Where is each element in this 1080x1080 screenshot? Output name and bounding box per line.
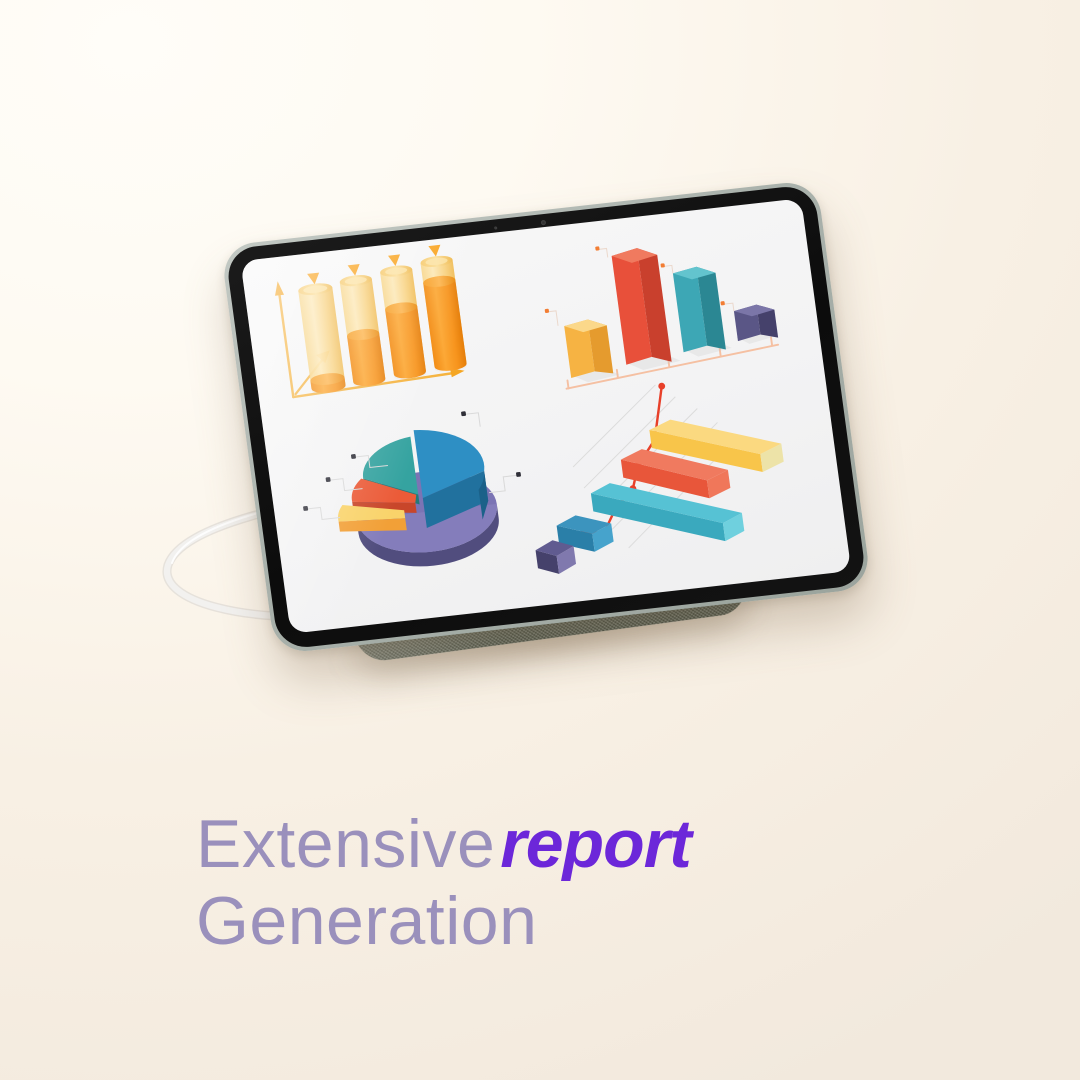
bar-marker-1-icon <box>307 273 320 285</box>
isometric-column-chart <box>537 228 782 390</box>
bar-marker-3-icon <box>388 254 401 266</box>
camera-lens-icon <box>541 220 547 226</box>
headline-line-2: Generation <box>196 883 1036 960</box>
bar-3 <box>378 253 427 381</box>
dashboard-charts <box>240 198 849 620</box>
bar-1 <box>296 271 346 396</box>
poster-canvas: Extensive report Generation <box>0 0 1080 1080</box>
headline-line-1: Extensive report <box>196 806 1036 883</box>
tablet-screen[interactable] <box>240 198 851 633</box>
bar-marker-2-icon <box>348 264 361 276</box>
bar-2 <box>338 263 387 389</box>
horizontal-bar-line-chart <box>515 370 795 576</box>
tablet-device <box>150 195 910 695</box>
column-teal <box>672 265 726 355</box>
headline-plain-text: Extensive <box>196 806 495 882</box>
bar-marker-4-icon <box>428 245 441 257</box>
exploded-pie-chart <box>293 406 532 579</box>
headline-accent-text: report <box>500 806 690 882</box>
cylinder-bar-chart <box>271 244 469 399</box>
headline: Extensive report Generation <box>196 806 1036 960</box>
y-axis-arrow-icon <box>273 281 284 296</box>
ambient-sensor-icon <box>494 226 498 230</box>
bar-4 <box>418 244 467 374</box>
column-yellow <box>564 317 614 378</box>
tablet-frame <box>220 179 872 654</box>
